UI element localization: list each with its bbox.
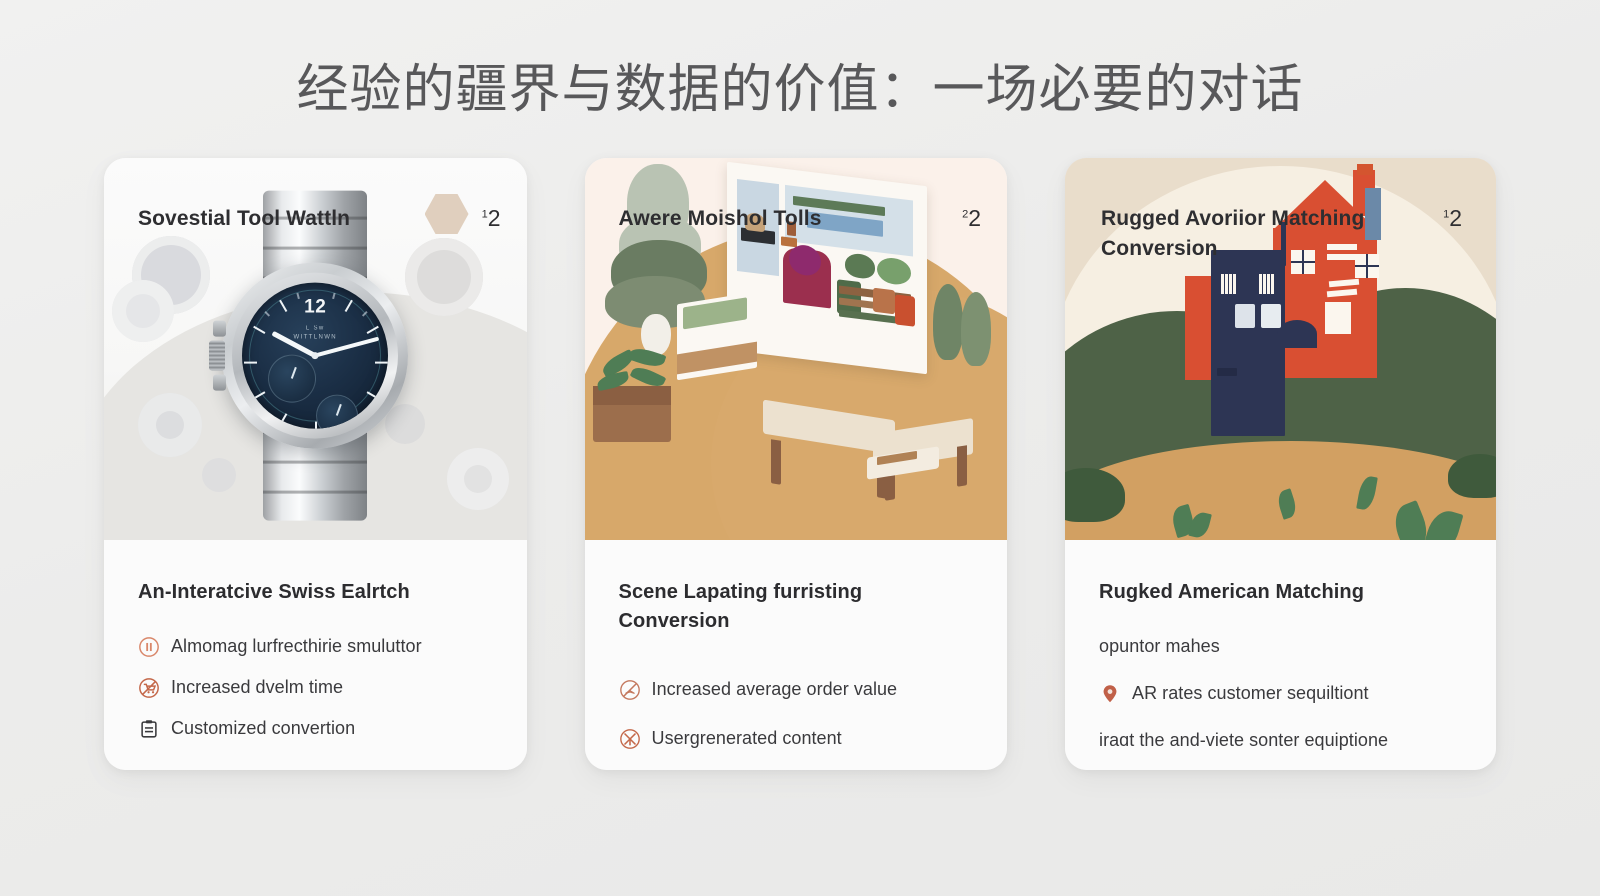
house-door	[1325, 302, 1351, 334]
card-2-feature-1: Usergrenerated content	[619, 725, 974, 752]
card-1-feature-1-label: Increased dvelm time	[171, 674, 343, 701]
card-2-badge: 22	[962, 204, 981, 232]
barn-window	[1261, 304, 1281, 328]
card-3-feature-0: opuntor mahes	[1099, 633, 1462, 660]
tree-shape	[961, 292, 991, 366]
wristwatch: 12 L SwWITTLNWN	[215, 191, 415, 521]
navy-barn-shadow	[1277, 320, 1317, 348]
card-3-badge-num: 2	[1449, 205, 1462, 231]
cabinet	[677, 292, 757, 381]
watch-crown	[209, 341, 225, 371]
card-2-body: Scene Lapating furristing Conversion Inc…	[585, 540, 1008, 770]
feature-card-1[interactable]: 12 L SwWITTLNWN	[104, 158, 527, 770]
gear-icon	[447, 448, 509, 510]
barn-window	[1235, 304, 1255, 328]
watch-bezel: 12 L SwWITTLNWN	[232, 273, 398, 439]
counter-leg	[957, 445, 967, 487]
barn-window	[1221, 274, 1237, 294]
card-1-feature-1: Increased dvelm time	[138, 674, 493, 701]
card-3-feature-2-label: iraɑt the and-viete sonter equiptione	[1099, 727, 1388, 754]
map-pin-icon	[1099, 683, 1121, 705]
barn-base-detail	[1217, 368, 1237, 376]
card-2-media: Awere Moishol Tolls 22	[585, 158, 1008, 540]
card-2-badge-num: 2	[968, 205, 981, 231]
chimney-accent	[1357, 164, 1373, 175]
no-cart-circle-icon	[138, 677, 160, 699]
watch-case: 12 L SwWITTLNWN	[222, 263, 408, 449]
card-3-feature-2: iraɑt the and-viete sonter equiptione	[1099, 727, 1462, 754]
bush-shape	[1448, 454, 1496, 498]
dial-hour-12: 12	[304, 297, 326, 319]
watch-subdial	[316, 395, 358, 429]
card-2-overlay-header: Awere Moishol Tolls 22	[619, 204, 982, 234]
dial-brand: L SwWITTLNWN	[293, 325, 337, 342]
page-title: 经验的疆界与数据的价值：一场必要的对话	[0, 58, 1600, 123]
feature-card-2[interactable]: Awere Moishol Tolls 22 Scene Lapating fu…	[585, 158, 1008, 770]
watch-pusher	[213, 375, 226, 391]
watch-pivot	[312, 352, 319, 359]
card-2-heading: Scene Lapating furristing Conversion	[619, 578, 974, 636]
card-2-feature-1-label: Usergrenerated content	[652, 725, 842, 752]
card-1-feature-2: Customized convertion	[138, 715, 493, 742]
card-3-heading: Rugked American Matching	[1099, 578, 1462, 607]
no-fly-circle-icon	[619, 679, 641, 701]
card-2-feature-0: Increased average order value	[619, 676, 974, 703]
card-3-body: Rugked American Matching opuntor mahes A…	[1065, 540, 1496, 770]
planter-box	[593, 386, 671, 442]
pause-circle-icon	[138, 636, 160, 658]
tree-shape	[933, 284, 963, 360]
gear-icon	[138, 393, 202, 457]
card-3-badge: 12	[1443, 204, 1462, 232]
card-1-badge-num: 2	[488, 205, 501, 231]
table-leg	[771, 439, 781, 485]
feature-card-3[interactable]: Rugged Avoriior Matching Conversion 12 R…	[1065, 158, 1496, 770]
card-1-overlay-title: Sovestial Tool Wattln	[138, 204, 350, 234]
card-3-feature-1-label: AR rates customer sequiltiont	[1132, 680, 1369, 707]
card-1-body: An-Interatcive Swiss Ealrtch Almomag lur…	[104, 540, 527, 770]
card-1-heading: An-Interatcive Swiss Ealrtch	[138, 578, 493, 607]
card-1-overlay-header: Sovestial Tool Wattln 12	[138, 204, 501, 234]
card-3-feature-1: AR rates customer sequiltiont	[1099, 680, 1462, 707]
watch-pusher	[213, 321, 226, 337]
barn-window	[1259, 274, 1275, 294]
card-3-feature-0-label: opuntor mahes	[1099, 633, 1220, 660]
card-2-feature-0-label: Increased average order value	[652, 676, 898, 703]
card-1-feature-2-label: Customized convertion	[171, 715, 355, 742]
card-1-feature-0-label: Almomag lurfrecthirie smuluttor	[171, 633, 422, 660]
card-grid: 12 L SwWITTLNWN	[104, 158, 1496, 770]
card-2-overlay-title: Awere Moishol Tolls	[619, 204, 822, 234]
card-3-overlay-header: Rugged Avoriior Matching Conversion 12	[1101, 204, 1462, 265]
no-entry-circle-icon	[619, 728, 641, 750]
card-1-badge: 12	[482, 204, 501, 232]
card-1-media: 12 L SwWITTLNWN	[104, 158, 527, 540]
gear-icon	[405, 238, 483, 316]
card-1-feature-0: Almomag lurfrecthirie smuluttor	[138, 633, 493, 660]
page-root: 经验的疆界与数据的价值：一场必要的对话	[0, 0, 1600, 896]
card-3-overlay-title: Rugged Avoriior Matching Conversion	[1101, 204, 1431, 265]
clipboard-icon	[138, 718, 160, 740]
watch-dial: 12 L SwWITTLNWN	[242, 283, 388, 429]
gear-icon	[112, 280, 174, 342]
card-3-media: Rugged Avoriior Matching Conversion 12	[1065, 158, 1496, 540]
watch-subdial	[268, 355, 316, 403]
